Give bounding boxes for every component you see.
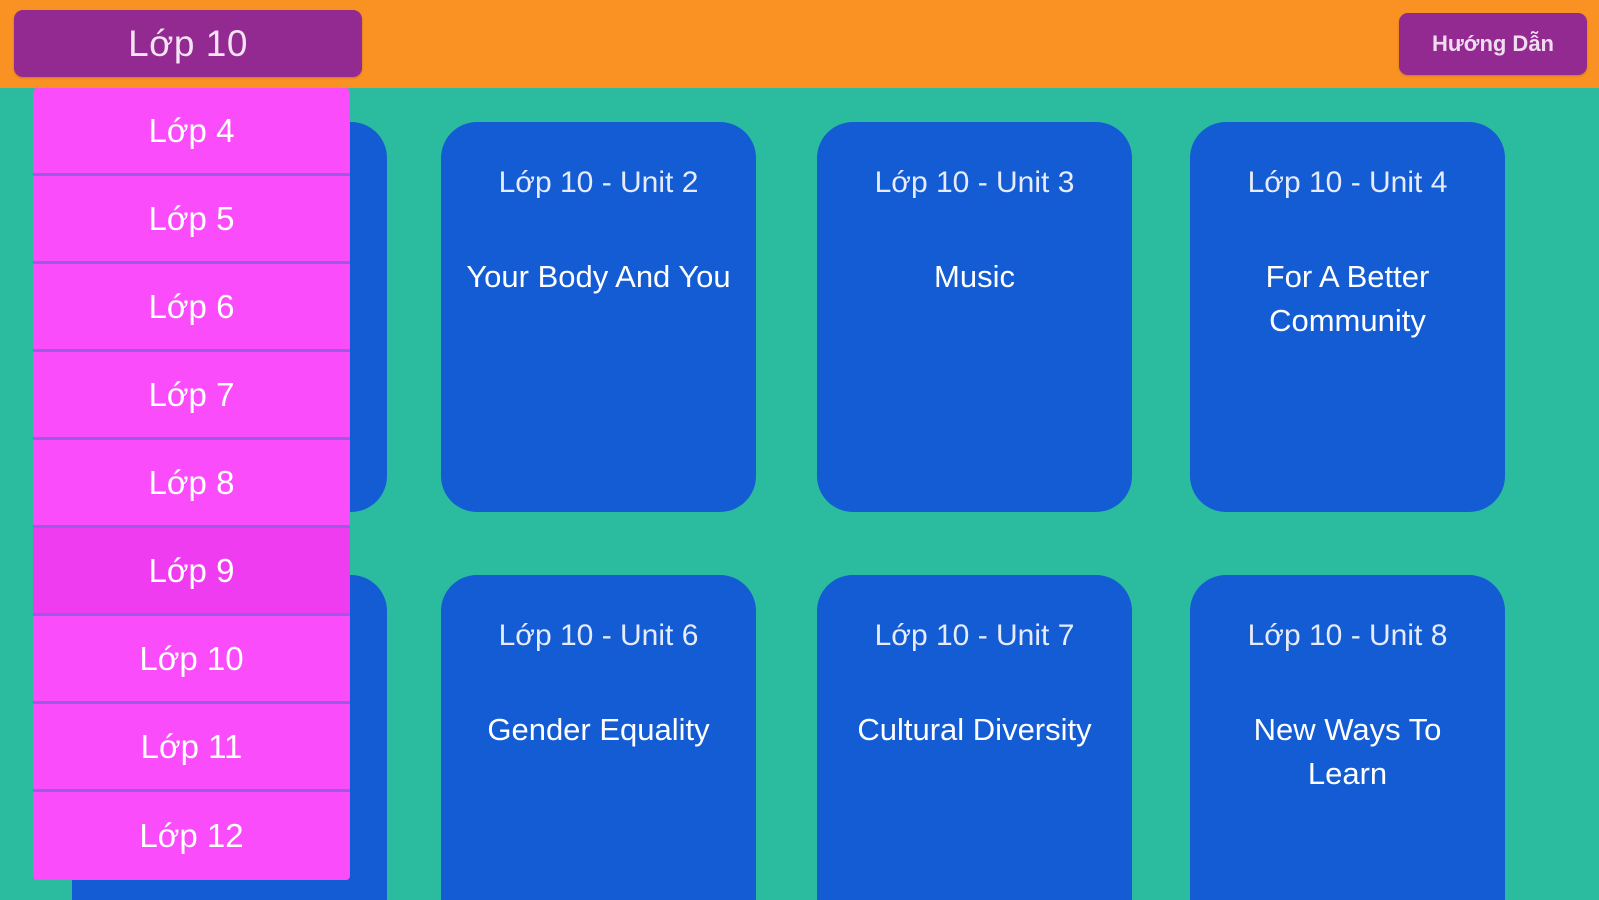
grade-option-lop-10[interactable]: Lớp 10 <box>33 616 350 704</box>
unit-card-label: Lớp 10 - Unit 4 <box>1212 166 1483 201</box>
unit-card[interactable]: Lớp 10 - Unit 6 Gender Equality <box>441 575 756 900</box>
grade-option-label: Lớp 7 <box>149 376 235 414</box>
guide-button[interactable]: Hướng Dẫn <box>1399 13 1587 75</box>
unit-card-title: Your Body And You <box>463 255 734 299</box>
unit-card-title: For A Better Community <box>1212 255 1483 343</box>
unit-card[interactable]: Lớp 10 - Unit 4 For A Better Community <box>1190 122 1505 512</box>
unit-card-title: New Ways To Learn <box>1212 708 1483 796</box>
unit-card[interactable]: Lớp 10 - Unit 2 Your Body And You <box>441 122 756 512</box>
grade-select-label: Lớp 10 <box>128 23 248 65</box>
unit-card-title: Gender Equality <box>463 708 734 752</box>
grade-option-label: Lớp 12 <box>139 817 243 855</box>
grade-option-lop-6[interactable]: Lớp 6 <box>33 264 350 352</box>
grade-option-label: Lớp 5 <box>149 200 235 238</box>
unit-card-title: Music <box>839 255 1110 299</box>
grade-option-label: Lớp 6 <box>149 288 235 326</box>
unit-card-label: Lớp 10 - Unit 3 <box>839 166 1110 201</box>
unit-card-label: Lớp 10 - Unit 2 <box>463 166 734 201</box>
grade-option-lop-4[interactable]: Lớp 4 <box>33 88 350 176</box>
grade-option-lop-9[interactable]: Lớp 9 <box>33 528 350 616</box>
unit-card-label: Lớp 10 - Unit 6 <box>463 619 734 654</box>
unit-card-label: Lớp 10 - Unit 8 <box>1212 619 1483 654</box>
grade-option-label: Lớp 4 <box>149 112 235 150</box>
grade-option-lop-12[interactable]: Lớp 12 <box>33 792 350 880</box>
grade-option-label: Lớp 9 <box>149 552 235 590</box>
unit-card-title: Cultural Diversity <box>839 708 1110 752</box>
grade-select-button[interactable]: Lớp 10 <box>14 10 362 77</box>
guide-button-label: Hướng Dẫn <box>1432 31 1554 57</box>
grade-option-lop-7[interactable]: Lớp 7 <box>33 352 350 440</box>
grade-option-label: Lớp 11 <box>141 728 243 766</box>
grade-option-label: Lớp 8 <box>149 464 235 502</box>
grade-option-lop-8[interactable]: Lớp 8 <box>33 440 350 528</box>
unit-card[interactable]: Lớp 10 - Unit 3 Music <box>817 122 1132 512</box>
grade-dropdown-menu[interactable]: Lớp 4 Lớp 5 Lớp 6 Lớp 7 Lớp 8 Lớp 9 Lớp … <box>33 88 350 880</box>
unit-card-label: Lớp 10 - Unit 7 <box>839 619 1110 654</box>
unit-card[interactable]: Lớp 10 - Unit 7 Cultural Diversity <box>817 575 1132 900</box>
grade-option-lop-5[interactable]: Lớp 5 <box>33 176 350 264</box>
grade-option-lop-11[interactable]: Lớp 11 <box>33 704 350 792</box>
header-bar: Lớp 10 Hướng Dẫn <box>0 0 1599 88</box>
unit-card[interactable]: Lớp 10 - Unit 8 New Ways To Learn <box>1190 575 1505 900</box>
app-root: Lớp 10 Hướng Dẫn Lớp 10 - Unit 1 Lớp 10 … <box>0 0 1599 900</box>
grade-option-label: Lớp 10 <box>139 640 243 678</box>
